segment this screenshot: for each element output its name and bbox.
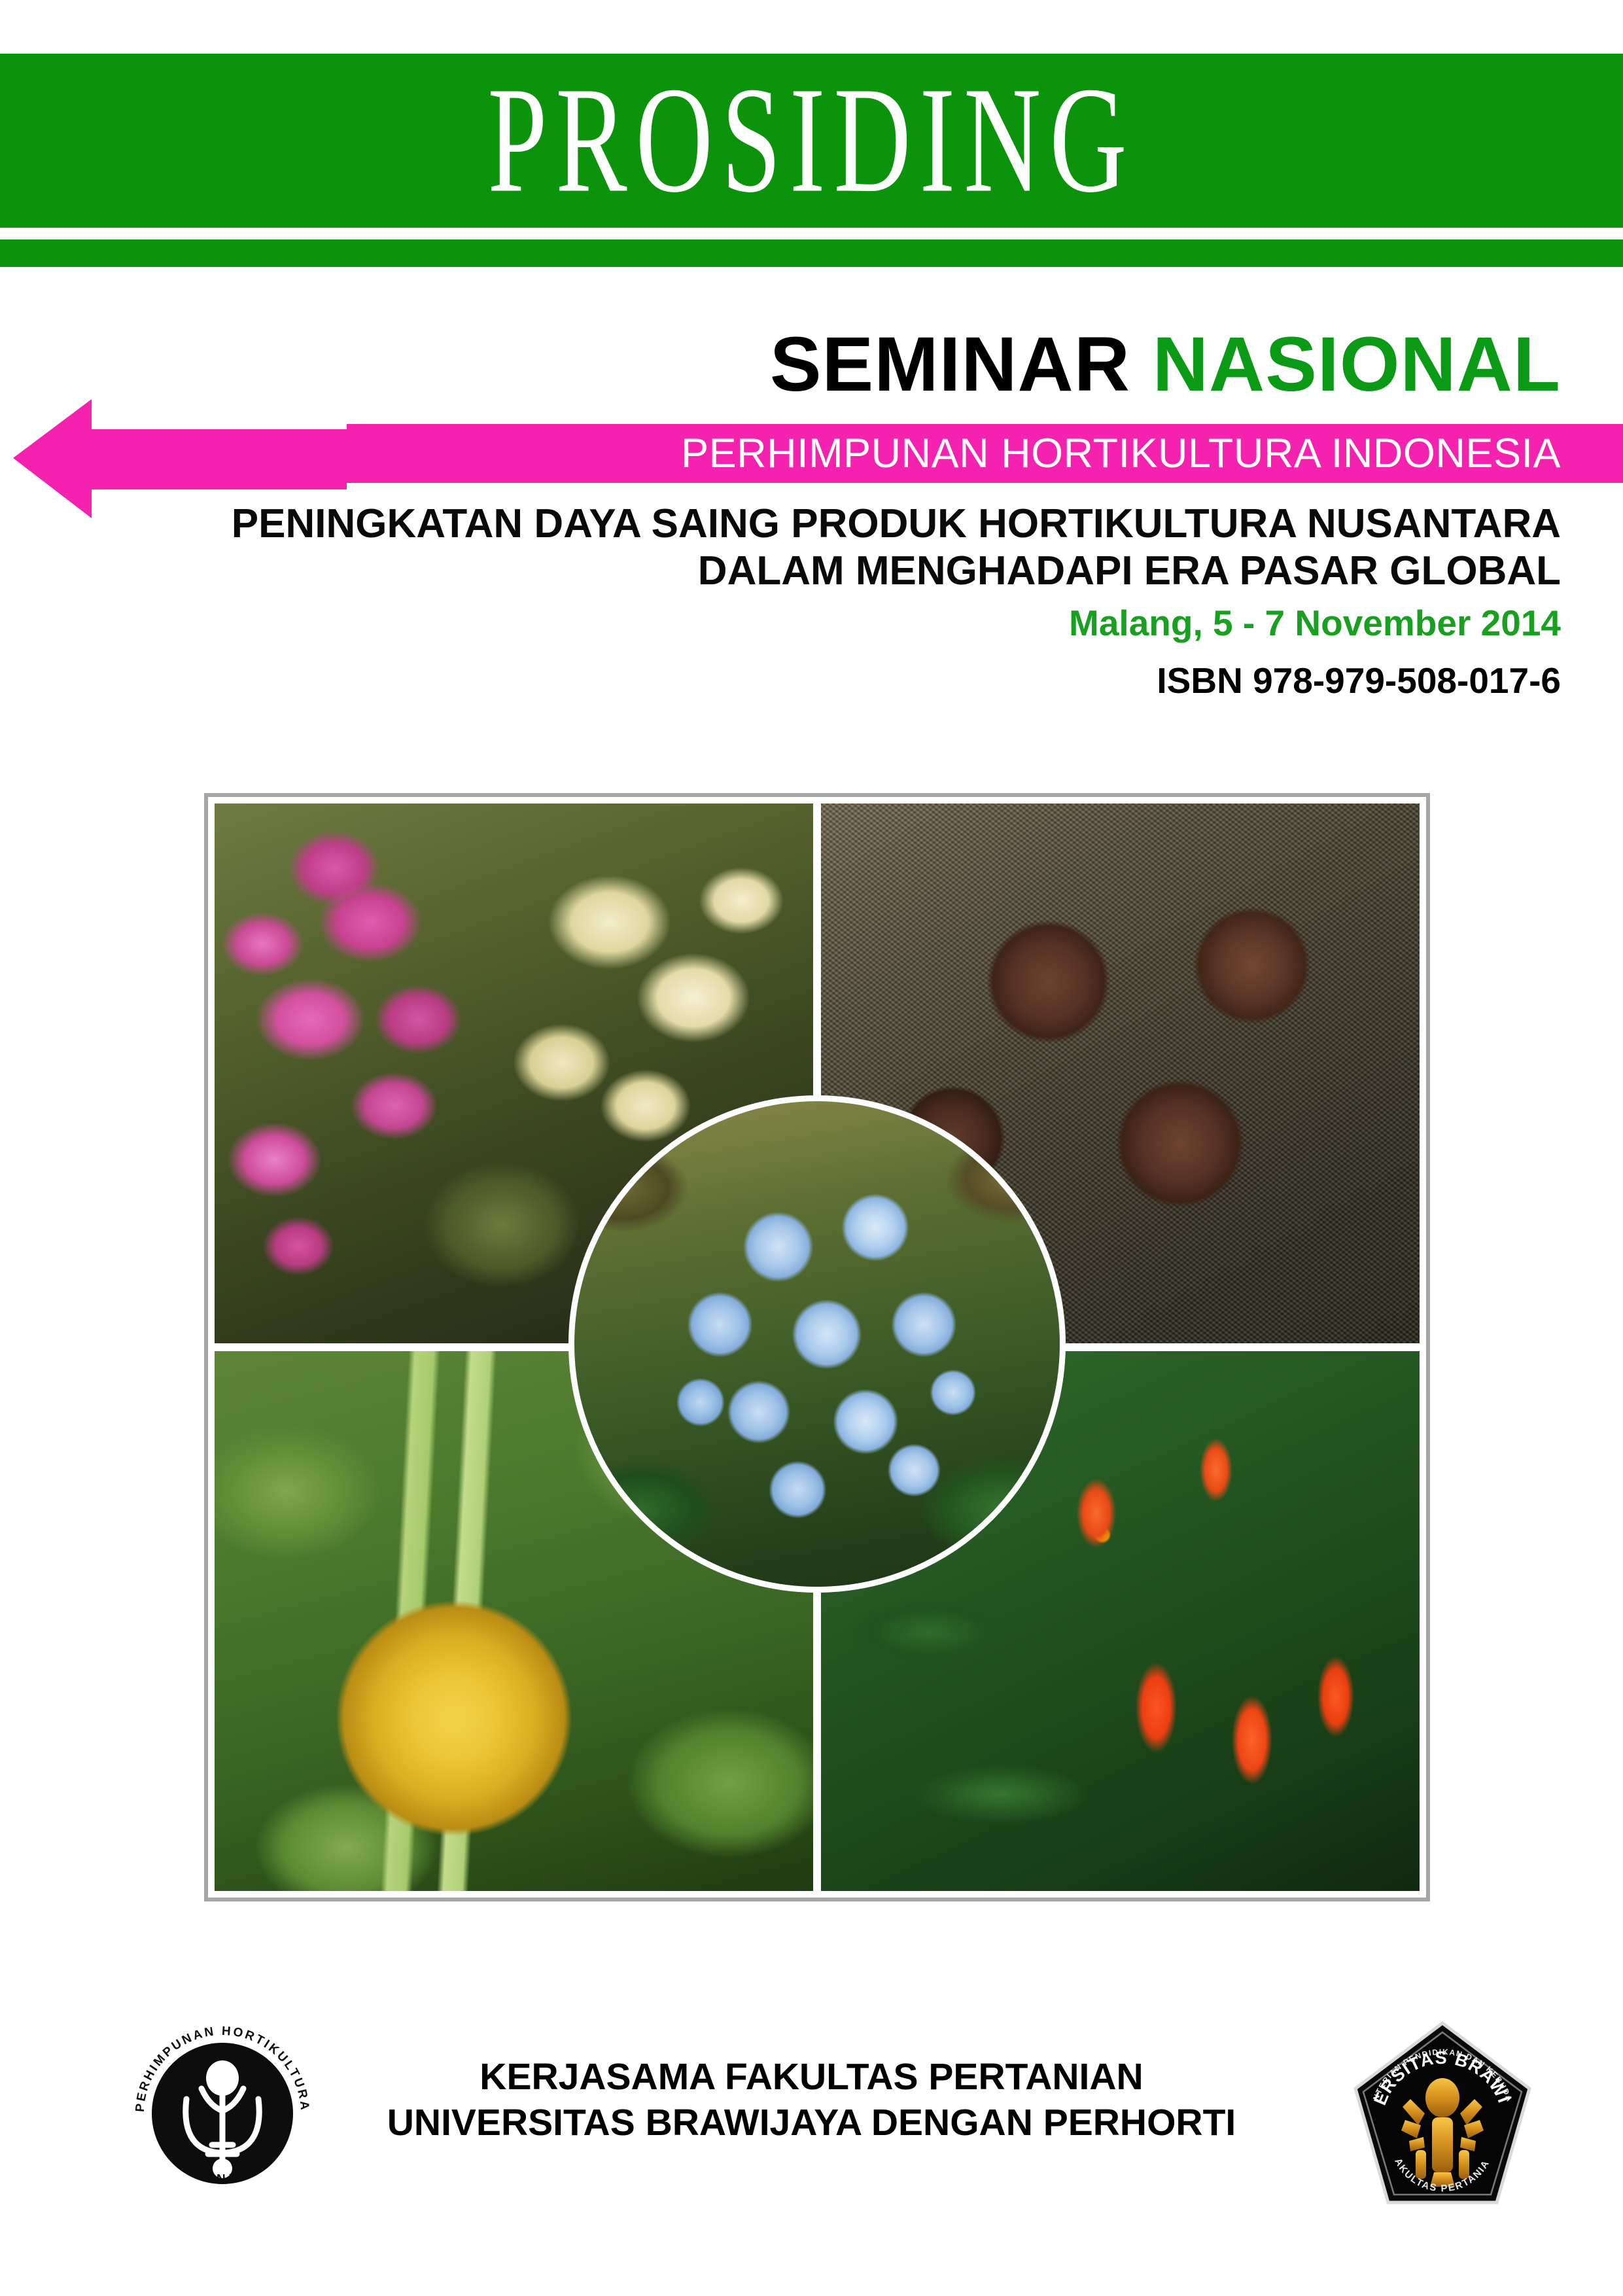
seminar-heading-block: SEMINAR NASIONAL PERHIMPUNAN HORTIKULTUR… xyxy=(0,314,1623,746)
hydrangea-photo xyxy=(568,1095,1066,1593)
photo-collage xyxy=(204,793,1430,1901)
prosiding-banner: PROSIDING xyxy=(0,54,1623,228)
brawijaya-logo: KEMENTERIAN PENDIDIKAN DAN KEBUDAYAAN UN… xyxy=(1348,2015,1537,2218)
footer-block: PERHIMPUNAN HORTIKULTURA INDONESIA KERJA… xyxy=(0,2015,1623,2277)
theme-line-2: DALAM MENGHADAPI ERA PASAR GLOBAL xyxy=(232,548,1561,595)
organization-name: PERHIMPUNAN HORTIKULTURA INDONESIA xyxy=(681,424,1561,483)
banner-accent-stripe xyxy=(0,239,1623,267)
organization-banner: PERHIMPUNAN HORTIKULTURA INDONESIA xyxy=(347,424,1623,483)
seminar-word: SEMINAR xyxy=(770,321,1130,408)
collage-grid xyxy=(215,804,1420,1891)
seminar-theme: PENINGKATAN DAYA SAING PRODUK HORTIKULTU… xyxy=(232,501,1561,595)
page-title: PROSIDING xyxy=(57,26,1566,255)
isbn-number: ISBN 978-979-508-017-6 xyxy=(1157,660,1561,701)
seminar-title: SEMINAR NASIONAL xyxy=(770,326,1561,403)
event-date: Malang, 5 - 7 November 2014 xyxy=(1069,602,1561,644)
nasional-word: NASIONAL xyxy=(1153,321,1561,408)
theme-line-1: PENINGKATAN DAYA SAING PRODUK HORTIKULTU… xyxy=(232,501,1561,548)
